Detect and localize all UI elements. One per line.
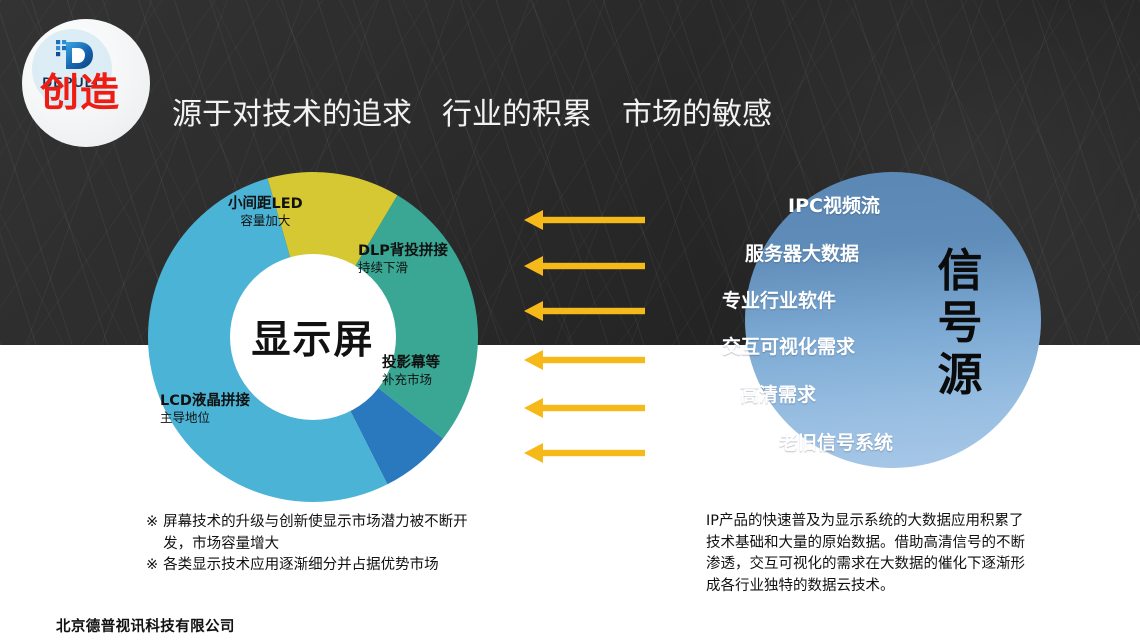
source-item-0: IPC视频流 (788, 195, 880, 217)
slide-root: DEPULL 创造 源于对技术的追求 行业的积累 市场的敏感 显示屏 小间距LE… (0, 0, 1140, 643)
company-name: 北京德普视讯科技有限公司 (56, 615, 235, 636)
note-left-item-1: ※ 各类显示技术应用逐渐细分并占据优势市场 (146, 555, 476, 577)
arrow-left-icon-shaft (540, 450, 645, 456)
signal-source-title-char: 信 (930, 245, 990, 297)
donut-svg (148, 172, 478, 502)
source-item-1: 服务器大数据 (745, 243, 859, 265)
depull-d-logo-icon (52, 35, 96, 75)
signal-source-title: 信号源 (930, 245, 990, 401)
donut-hole (230, 254, 396, 420)
arrow-left-icon-head (524, 443, 543, 463)
arrow-left-icon-head (524, 398, 543, 418)
source-item-3: 交互可视化需求 (722, 336, 855, 358)
note-marker-icon: ※ (146, 555, 158, 577)
page-title: 源于对技术的追求 行业的积累 市场的敏感 (172, 98, 772, 132)
arrow-left-icon-shaft (540, 405, 645, 411)
signal-source-title-char: 源 (930, 349, 990, 401)
note-left-item-0: ※ 屏幕技术的升级与创新使显示市场潜力被不断开发，市场容量增大 (146, 512, 476, 555)
note-marker-icon: ※ (146, 512, 158, 555)
display-donut-chart: 显示屏 (148, 172, 478, 502)
note-left-block: ※ 屏幕技术的升级与创新使显示市场潜力被不断开发，市场容量增大 ※ 各类显示技术… (146, 512, 476, 577)
note-left-text: 屏幕技术的升级与创新使显示市场潜力被不断开发，市场容量增大 (163, 512, 476, 555)
source-item-5: 老旧信号系统 (779, 432, 893, 454)
note-left-text: 各类显示技术应用逐渐细分并占据优势市场 (163, 555, 439, 577)
note-right-block: IP产品的快速普及为显示系统的大数据应用积累了技术基础和大量的原始数据。借助高清… (706, 511, 1028, 597)
signal-source-title-char: 号 (930, 297, 990, 349)
arrow-left-icon-shaft (540, 357, 645, 363)
brand-kicker: 创造 (40, 74, 148, 113)
source-item-2: 专业行业软件 (722, 290, 836, 312)
arrow-left-icon-head (524, 350, 543, 370)
source-item-4: 高清需求 (740, 384, 816, 406)
